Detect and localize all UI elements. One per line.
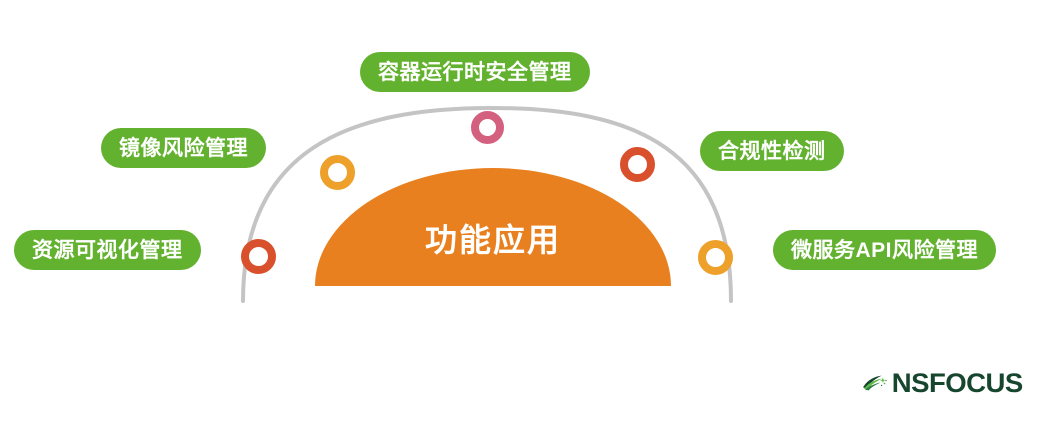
node-ring-compliance-detection[interactable] bbox=[620, 147, 655, 182]
center-dome: 功能应用 bbox=[315, 168, 671, 286]
label-pill-microservice-api-risk[interactable]: 微服务API风险管理 bbox=[773, 230, 996, 270]
label-pill-container-runtime-security[interactable]: 容器运行时安全管理 bbox=[360, 52, 590, 92]
nsfocus-swoosh-icon bbox=[862, 366, 887, 400]
center-dome-label: 功能应用 bbox=[315, 168, 671, 286]
label-pill-image-risk[interactable]: 镜像风险管理 bbox=[101, 128, 266, 168]
label-pill-resource-visualization[interactable]: 资源可视化管理 bbox=[14, 230, 201, 270]
label-pill-compliance-detection[interactable]: 合规性检测 bbox=[700, 131, 844, 171]
node-ring-microservice-api-risk[interactable] bbox=[698, 240, 733, 275]
node-ring-container-runtime-security[interactable] bbox=[471, 111, 504, 144]
nsfocus-logo: NSFOCUS bbox=[862, 360, 1022, 406]
node-ring-resource-visualization[interactable] bbox=[241, 239, 276, 274]
nsfocus-wordmark: NSFOCUS bbox=[892, 370, 1023, 397]
diagram-canvas: 功能应用 资源可视化管理 镜像风险管理 容器运行时安全管理 合规性检测 微服务A… bbox=[0, 0, 1061, 427]
node-ring-image-risk[interactable] bbox=[320, 155, 355, 190]
